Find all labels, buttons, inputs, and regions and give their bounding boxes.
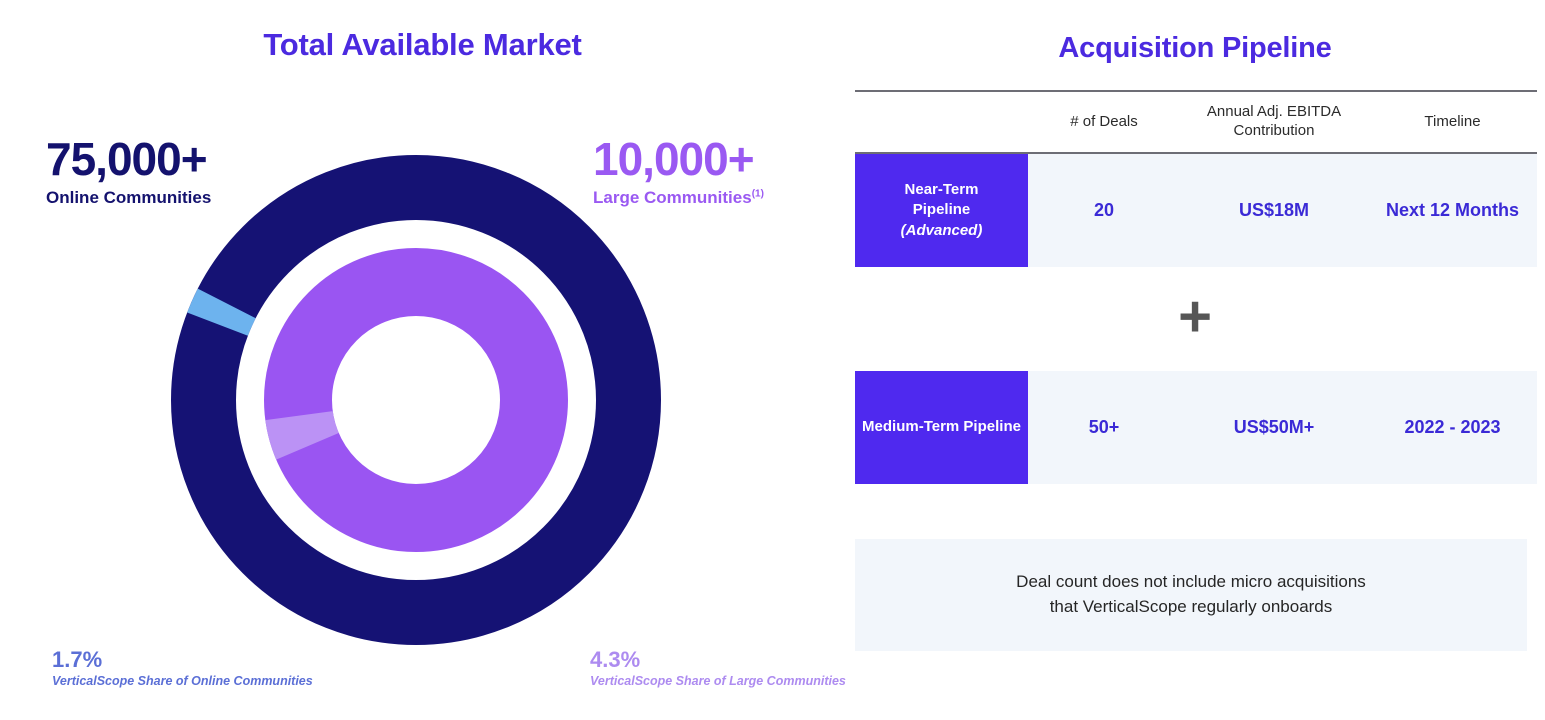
stat-online-communities-value: 75,000+ xyxy=(46,136,211,182)
share-large-communities-value: 4.3% xyxy=(590,648,846,671)
row-category-near-term: Near-Term Pipeline (Advanced) xyxy=(855,154,1028,267)
column-header-ebitda: Annual Adj. EBITDA Contribution xyxy=(1180,103,1368,141)
share-online-communities: 1.7% VerticalScope Share of Online Commu… xyxy=(52,648,313,688)
row-category-near-term-emphasis: (Advanced) xyxy=(901,222,983,239)
total-available-market-panel: Total Available Market 75,000+ Online Co… xyxy=(0,0,845,720)
table-row[interactable]: Medium-Term Pipeline 50+ US$50M+ 2022 - … xyxy=(855,371,1537,484)
deal-count-note-box: Deal count does not include micro acquis… xyxy=(855,539,1527,651)
stat-large-communities-label: Large Communities(1) xyxy=(593,188,764,208)
share-online-communities-caption: VerticalScope Share of Online Communitie… xyxy=(52,674,313,688)
stat-large-communities-label-text: Large Communities xyxy=(593,188,752,207)
page-title-total-available-market: Total Available Market xyxy=(0,27,845,63)
share-large-communities: 4.3% VerticalScope Share of Large Commun… xyxy=(590,648,846,688)
column-header-timeline: Timeline xyxy=(1368,113,1537,132)
column-header-deals: # of Deals xyxy=(1028,113,1180,132)
stat-large-communities-footnote-marker: (1) xyxy=(752,188,764,199)
row-medium-term-deals: 50+ xyxy=(1028,371,1180,484)
stat-online-communities: 75,000+ Online Communities xyxy=(46,136,211,208)
row-near-term-deals: 20 xyxy=(1028,154,1180,267)
row-medium-term-ebitda: US$50M+ xyxy=(1180,371,1368,484)
row-near-term-ebitda: US$18M xyxy=(1180,154,1368,267)
deal-count-note-text: Deal count does not include micro acquis… xyxy=(1016,570,1366,619)
share-online-communities-value: 1.7% xyxy=(52,648,313,671)
row-medium-term-timeline: 2022 - 2023 xyxy=(1368,371,1537,484)
page-title-acquisition-pipeline: Acquisition Pipeline xyxy=(845,32,1545,65)
share-large-communities-caption: VerticalScope Share of Large Communities xyxy=(590,674,846,688)
row-category-medium-term: Medium-Term Pipeline xyxy=(855,371,1028,484)
table-header-row: # of Deals Annual Adj. EBITDA Contributi… xyxy=(855,92,1537,152)
stat-large-communities-value: 10,000+ xyxy=(593,136,764,182)
plus-separator-icon: + xyxy=(845,288,1545,346)
table-row[interactable]: Near-Term Pipeline (Advanced) 20 US$18M … xyxy=(855,154,1537,267)
stat-large-communities: 10,000+ Large Communities(1) xyxy=(593,136,764,208)
row-category-near-term-label: Near-Term Pipeline xyxy=(905,181,979,218)
tam-donut-chart xyxy=(170,154,662,646)
stat-online-communities-label: Online Communities xyxy=(46,188,211,208)
acquisition-pipeline-table: # of Deals Annual Adj. EBITDA Contributi… xyxy=(855,90,1537,267)
row-category-medium-term-label: Medium-Term Pipeline xyxy=(862,418,1021,435)
row-near-term-timeline: Next 12 Months xyxy=(1368,154,1537,267)
donut-inner-ring-other xyxy=(298,282,534,518)
acquisition-pipeline-table-second: Medium-Term Pipeline 50+ US$50M+ 2022 - … xyxy=(855,371,1537,484)
